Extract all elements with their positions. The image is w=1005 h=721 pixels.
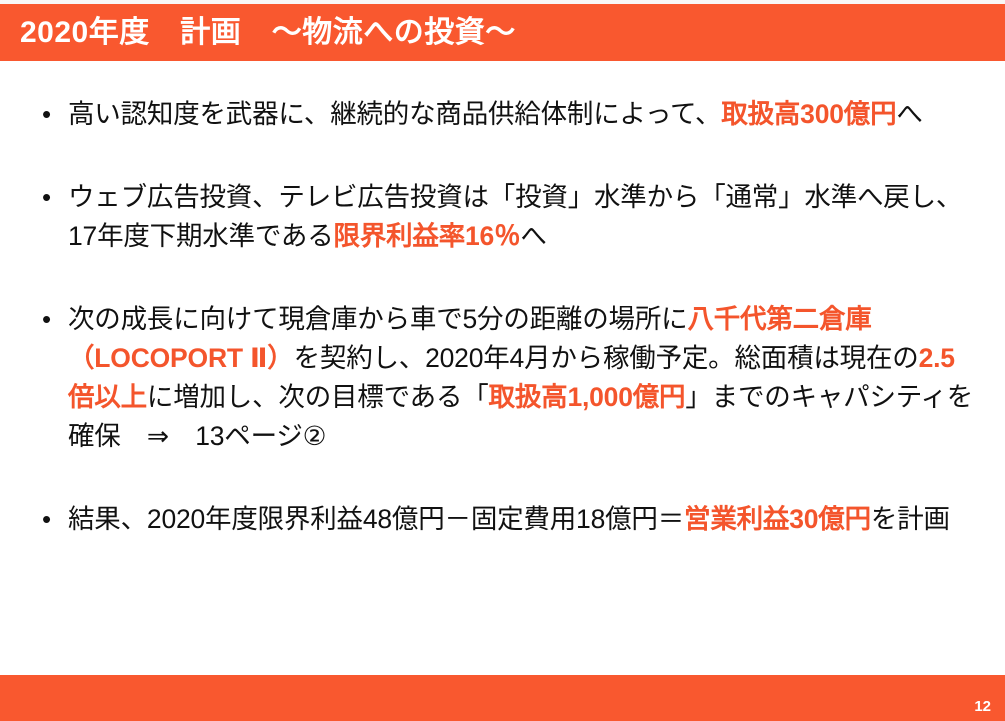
bullet-text: 次の成長に向けて現倉庫から車で5分の距離の場所に八千代第二倉庫（LOCOPORT…: [68, 300, 977, 456]
slide-footer-bar: 12: [0, 675, 1005, 721]
text-run: に増加し、次の目標である「: [147, 382, 489, 412]
bullet-item: •高い認知度を武器に、継続的な商品供給体制によって、取扱高300億円へ: [0, 95, 1005, 134]
bullet-text: 結果、2020年度限界利益48億円－固定費用18億円＝営業利益30億円を計画: [68, 500, 977, 539]
highlighted-run: 限界利益率16％: [334, 221, 521, 251]
slide: 2020年度 計画 ～物流への投資～ •高い認知度を武器に、継続的な商品供給体制…: [0, 0, 1005, 721]
highlighted-run: 営業利益30億円: [684, 504, 871, 534]
highlighted-run: 取扱高1,000億円: [489, 382, 686, 412]
bullet-marker-icon: •: [42, 500, 68, 538]
highlighted-run: 取扱高300億円: [721, 99, 896, 129]
text-run: 結果、2020年度限界利益48億円－固定費用18億円＝: [68, 504, 684, 534]
bullet-text: 高い認知度を武器に、継続的な商品供給体制によって、取扱高300億円へ: [68, 95, 977, 134]
bullet-marker-icon: •: [42, 95, 68, 133]
bullet-item: •ウェブ広告投資、テレビ広告投資は「投資」水準から「通常」水準へ戻し、17年度下…: [0, 178, 1005, 256]
bullet-marker-icon: •: [42, 178, 68, 216]
bullet-item: •結果、2020年度限界利益48億円－固定費用18億円＝営業利益30億円を計画: [0, 500, 1005, 539]
text-run: を計画: [871, 504, 950, 534]
bullet-marker-icon: •: [42, 300, 68, 338]
text-run: 高い認知度を武器に、継続的な商品供給体制によって、: [68, 99, 721, 129]
text-run: へ: [896, 99, 922, 129]
text-run: 次の成長に向けて現倉庫から車で5分の距離の場所に: [68, 304, 687, 334]
slide-header-bar: 2020年度 計画 ～物流への投資～: [0, 4, 1005, 61]
bullet-text: ウェブ広告投資、テレビ広告投資は「投資」水準から「通常」水準へ戻し、17年度下期…: [68, 178, 977, 256]
page-number: 12: [974, 699, 991, 714]
page-title: 2020年度 計画 ～物流への投資～: [0, 18, 516, 48]
text-run: を契約し、2020年4月から稼働予定。総面積は現在の: [294, 343, 919, 373]
text-run: へ: [520, 221, 546, 251]
bullet-item: •次の成長に向けて現倉庫から車で5分の距離の場所に八千代第二倉庫（LOCOPOR…: [0, 300, 1005, 456]
bullet-list: •高い認知度を武器に、継続的な商品供給体制によって、取扱高300億円へ•ウェブ広…: [0, 95, 1005, 539]
